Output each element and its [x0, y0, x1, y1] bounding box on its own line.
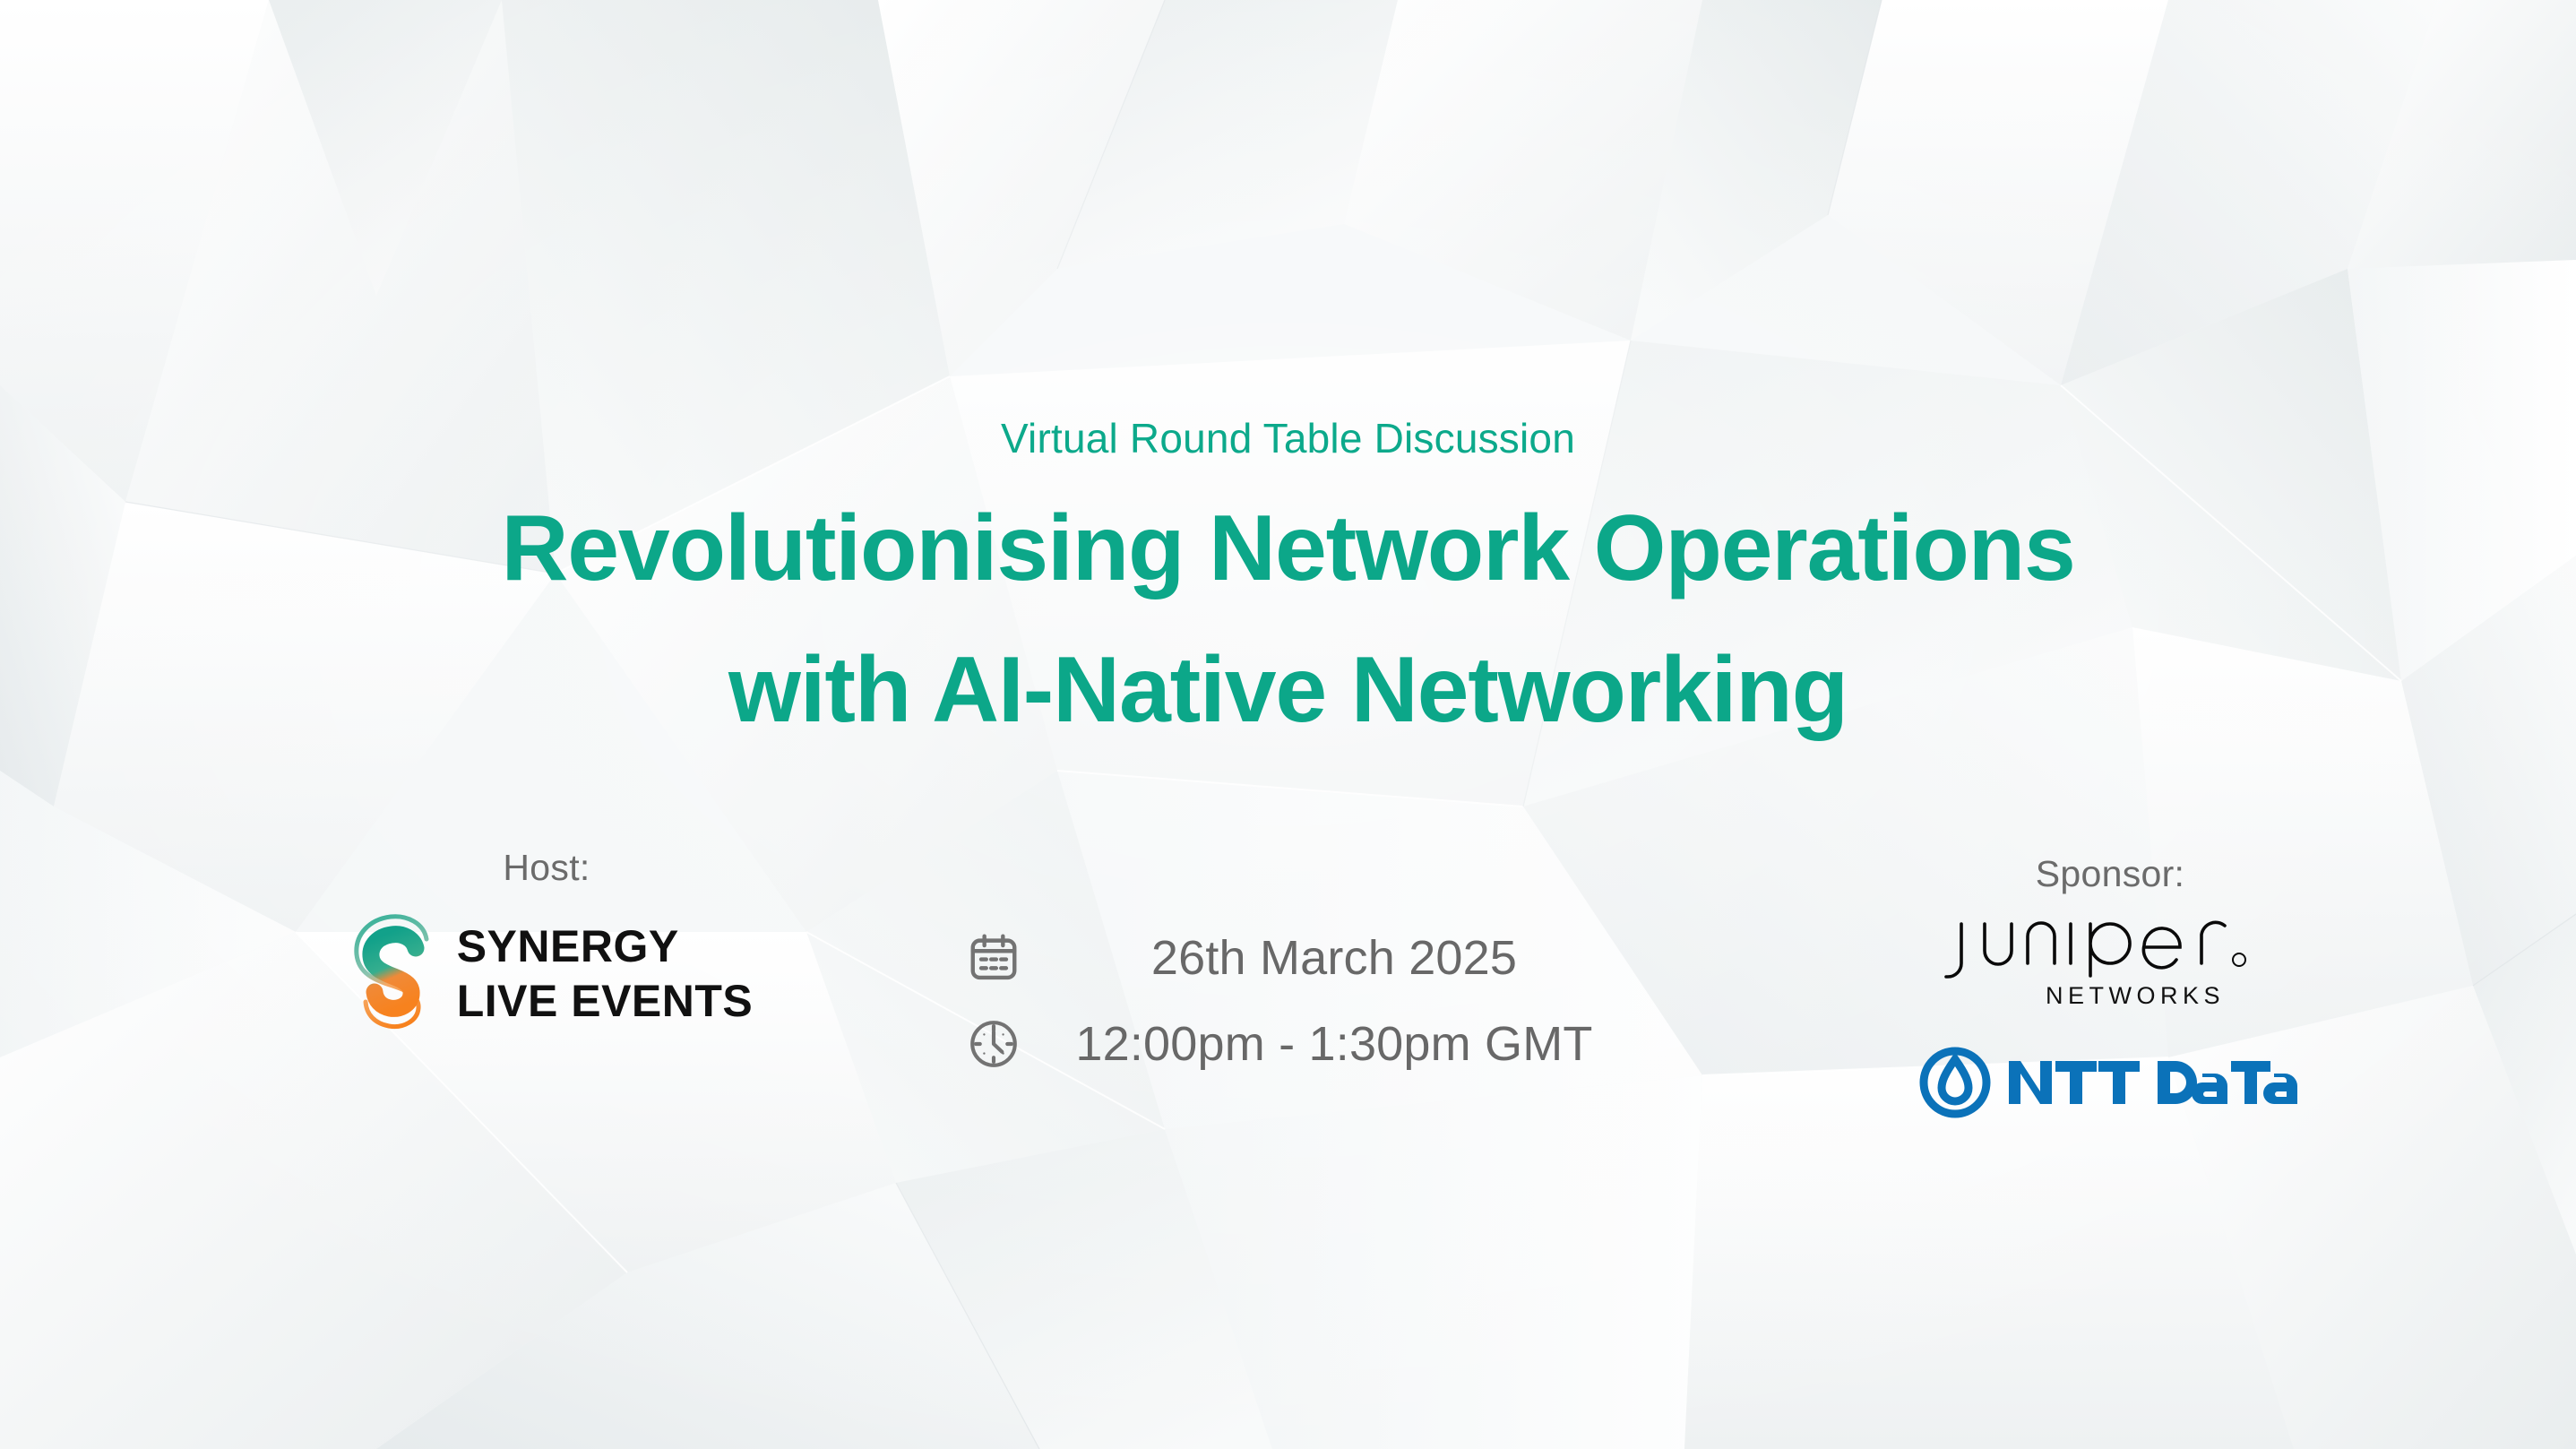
page-title: Revolutionising Network Operations with … — [0, 478, 2576, 761]
event-date: 26th March 2025 — [1029, 930, 1640, 986]
juniper-networks-logo: NETWORKS — [1943, 911, 2277, 1010]
ntt-circle-icon — [1917, 1044, 1994, 1121]
host-label: Host: — [503, 847, 590, 889]
ntt-data-wordmark — [2009, 1054, 2305, 1111]
event-details: 26th March 2025 12:00pm - 1:30pm — [959, 916, 1640, 1086]
calendar-icon — [959, 923, 1029, 993]
headline-line-1: Revolutionising Network Operations — [501, 496, 2074, 600]
juniper-wordmark — [1943, 911, 2277, 981]
sponsor-label: Sponsor: — [2036, 853, 2185, 895]
juniper-subtext: NETWORKS — [1995, 982, 2225, 1010]
clock-icon — [959, 1009, 1029, 1079]
synergy-wordmark-line-2: LIVE EVENTS — [457, 979, 754, 1023]
sponsor-block: Sponsor: — [1859, 853, 2361, 1121]
synergy-wordmark-line-1: SYNERGY — [457, 924, 754, 969]
synergy-live-events-logo: SYNERGY LIVE EVENTS — [340, 909, 754, 1039]
event-banner: Virtual Round Table Discussion Revolutio… — [0, 0, 2576, 1449]
event-date-row: 26th March 2025 — [959, 916, 1640, 1000]
synergy-s-icon — [340, 909, 452, 1039]
eyebrow-text: Virtual Round Table Discussion — [0, 414, 2576, 462]
synergy-wordmark: SYNERGY LIVE EVENTS — [457, 924, 754, 1023]
event-time: 12:00pm - 1:30pm GMT — [1029, 1016, 1640, 1072]
event-time-row: 12:00pm - 1:30pm GMT — [959, 1002, 1640, 1086]
host-block: Host: — [269, 847, 824, 1039]
headline-line-2: with AI-Native Networking — [0, 619, 2576, 761]
ntt-data-logo — [1917, 1044, 2305, 1121]
